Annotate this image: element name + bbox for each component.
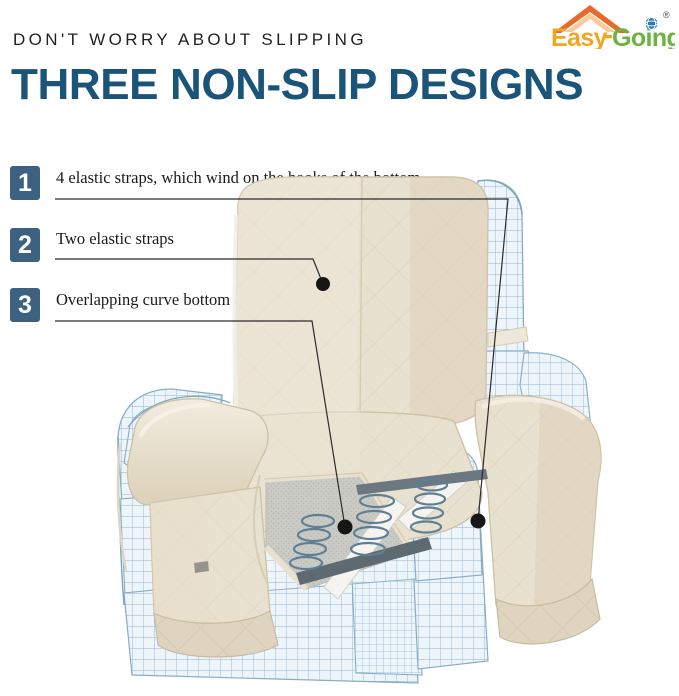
- brand-logo: Easy Going ®: [545, 1, 675, 49]
- svg-text:Easy: Easy: [551, 24, 608, 49]
- infographic-page: Easy Going ® DON'T WORRY ABOUT SLIPPING …: [0, 0, 679, 696]
- callout-badge-2: 2: [10, 228, 40, 262]
- eyebrow-text: DON'T WORRY ABOUT SLIPPING: [13, 30, 367, 50]
- registered-trademark-icon: ®: [663, 10, 670, 20]
- side-strap-tab: [194, 561, 209, 573]
- easy-going-logo-icon: Easy Going ®: [545, 1, 675, 49]
- callout-badge-1: 1: [10, 166, 40, 200]
- slipcover-backrest: [234, 177, 488, 431]
- recliner-slipcover-graphic: [110, 175, 679, 696]
- callout-badge-3: 3: [10, 288, 40, 322]
- slipcover-right-arm: [475, 395, 601, 644]
- svg-text:Going: Going: [612, 24, 675, 49]
- product-illustration: [110, 175, 679, 696]
- page-title: THREE NON-SLIP DESIGNS: [11, 63, 583, 107]
